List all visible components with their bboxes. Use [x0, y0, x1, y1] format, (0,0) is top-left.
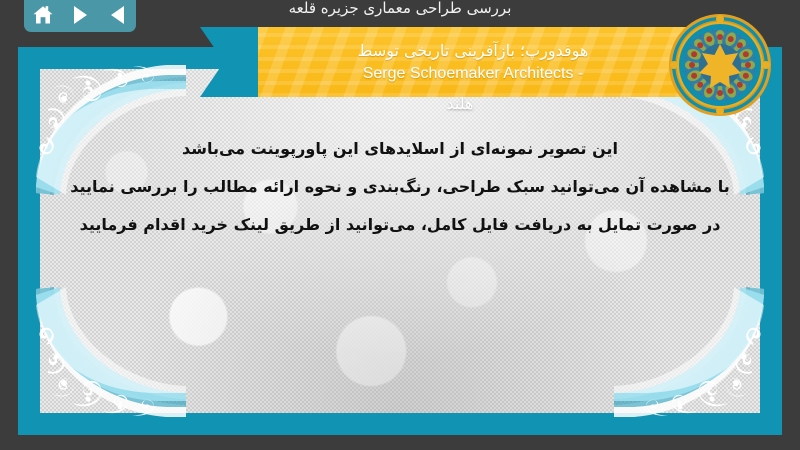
banner-line-latin: Serge Schoemaker Architects - — [363, 65, 584, 82]
banner-arrow-shape — [200, 27, 260, 97]
banner-line-fa: هوفدورپ؛ بازآفرینی تاریخی توسط — [358, 41, 589, 60]
slide-navigation-bar — [24, 0, 136, 32]
body-line-3: در صورت تمایل به دریافت فایل کامل، می‌تو… — [60, 206, 740, 244]
next-slide-button[interactable] — [67, 3, 93, 27]
persian-medallion-icon — [668, 13, 772, 117]
body-line-2: با مشاهده آن می‌توانید سبک طراحی، رنگ‌بن… — [60, 168, 740, 206]
slide-subtitle-banner: هوفدورپ؛ بازآفرینی تاریخی توسط Serge Sch… — [200, 27, 720, 97]
triangle-left-icon — [111, 6, 124, 24]
banner-text: هوفدورپ؛ بازآفرینی تاریخی توسط Serge Sch… — [358, 40, 589, 85]
triangle-right-icon — [74, 6, 87, 24]
prev-slide-button[interactable] — [104, 3, 130, 27]
body-line-1: این تصویر نمونه‌ای از اسلایدهای این پاور… — [60, 130, 740, 168]
banner-body: هوفدورپ؛ بازآفرینی تاریخی توسط Serge Sch… — [258, 27, 720, 97]
slide-stage: بررسی طراحی معماری جزیره قلعه — [0, 0, 800, 450]
home-icon — [32, 5, 54, 25]
slide-body-text: این تصویر نمونه‌ای از اسلایدهای این پاور… — [60, 130, 740, 244]
home-button[interactable] — [30, 3, 56, 27]
bottom-strip — [0, 435, 800, 450]
